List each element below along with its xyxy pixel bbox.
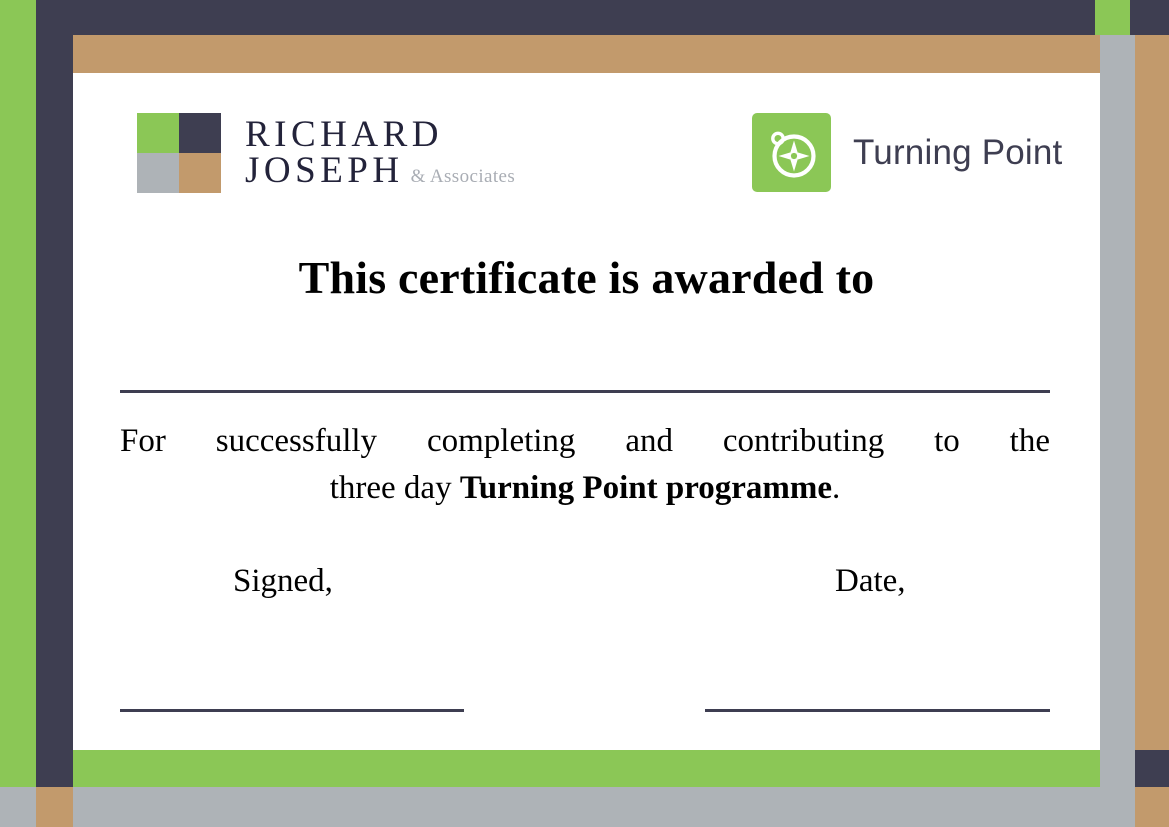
border-topright-tan-block [1135,35,1169,73]
date-label: Date, [835,563,906,600]
border-right-gray-band [1100,35,1135,787]
certificate-body-text: For successfully completing and contribu… [120,418,1050,512]
border-topright-navy-block [1130,0,1169,35]
richard-joseph-logo: RICHARD JOSEPH & Associates [137,113,515,193]
logo-line-joseph-associates: JOSEPH & Associates [245,153,515,189]
signature-line-date [705,709,1050,712]
border-bottomright-navy-block [1135,750,1169,787]
border-top-tan-band [73,35,1100,73]
border-right-tan-band [1135,73,1169,787]
logo-text-joseph: JOSEPH [245,153,404,189]
richard-joseph-logo-mark [137,113,221,193]
logo-text-richard: RICHARD [245,117,515,153]
certificate-content: RICHARD JOSEPH & Associates [73,73,1100,750]
recipient-name-line [120,390,1050,393]
border-bottom-gray-band [0,787,1169,827]
body-text-line-2: three day Turning Point programme. [120,465,1050,512]
logo-square-green [137,113,179,153]
border-topright-green-block [1095,0,1130,35]
border-top-navy-band [73,0,1095,35]
logo-square-tan [179,153,221,193]
body-text-programme: Turning Point programme [460,470,832,506]
richard-joseph-wordmark: RICHARD JOSEPH & Associates [245,117,515,190]
signature-row: Signed, Date, [120,563,1050,613]
signature-line-signed [120,709,464,712]
border-bottom-green-band [73,750,1100,787]
certificate-page: RICHARD JOSEPH & Associates [0,0,1169,827]
border-left-green-band [0,0,36,787]
logo-text-associates: & Associates [411,168,516,187]
compass-icon [752,113,831,192]
signed-label: Signed, [233,563,333,600]
body-text-prefix: three day [330,470,460,506]
turning-point-wordmark: Turning Point [853,133,1062,173]
border-bottomright-tan-block [1135,787,1169,827]
turning-point-logo: Turning Point [752,113,1062,192]
border-left-navy-band [36,0,73,787]
logo-square-navy [179,113,221,153]
body-text-line-1: For successfully completing and contribu… [120,418,1050,465]
border-bottomleft-tan-block [36,787,73,827]
logo-square-gray [137,153,179,193]
page-title: This certificate is awarded to [73,251,1100,304]
body-text-suffix: . [832,470,840,506]
